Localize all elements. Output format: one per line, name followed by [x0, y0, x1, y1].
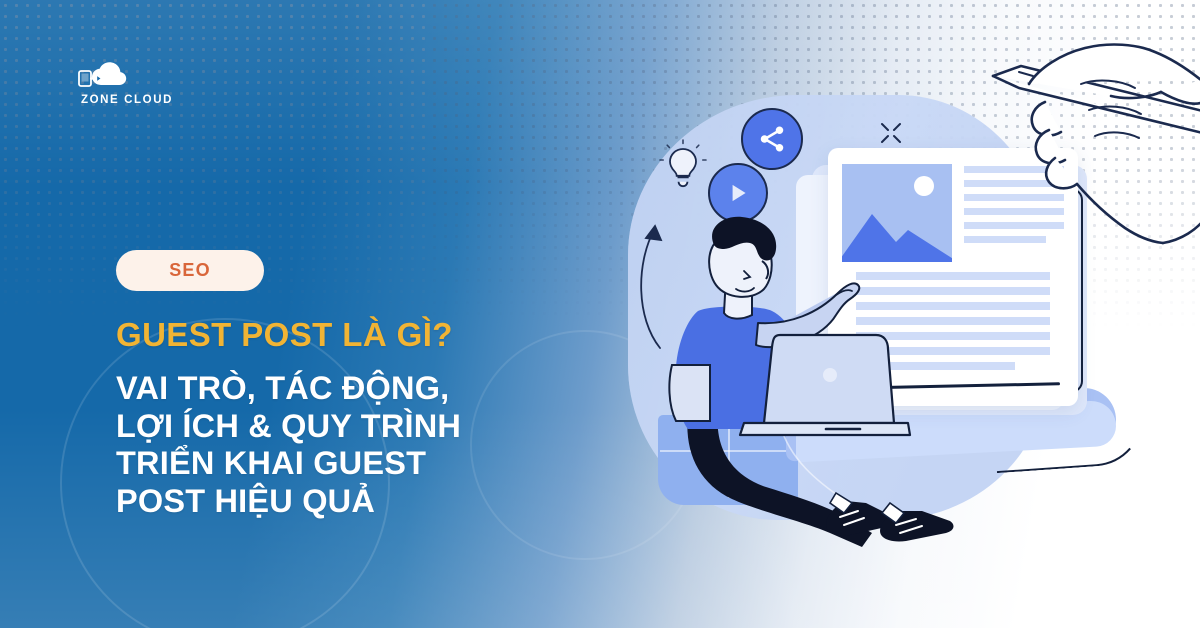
page-title-line-1: VAI TRÒ, TÁC ĐỘNG,	[116, 370, 586, 408]
lightbulb-icon	[660, 140, 706, 196]
hero-illustration	[600, 0, 1200, 628]
seo-blog-banner: ZONE CLOUD SEO GUEST POST LÀ GÌ? VAI TRÒ…	[0, 0, 1200, 628]
share-icon[interactable]	[741, 108, 803, 170]
page-title-line-4: POST HIỆU QUẢ	[116, 483, 586, 521]
page-title-highlight: GUEST POST LÀ GÌ?	[116, 318, 453, 351]
sparkle-icon	[878, 120, 904, 146]
brand-logo-text: ZONE CLOUD	[62, 94, 192, 106]
category-badge[interactable]: SEO	[116, 250, 264, 291]
person-illustration	[640, 215, 960, 555]
brand-logo[interactable]: ZONE CLOUD	[62, 62, 192, 118]
play-icon[interactable]	[708, 163, 768, 223]
laptop-base-outline	[993, 413, 1146, 473]
category-badge-label: SEO	[169, 260, 211, 281]
cloud-upload-icon	[76, 62, 138, 94]
page-title-line-2: LỢI ÍCH & QUY TRÌNH	[116, 408, 586, 446]
page-title: VAI TRÒ, TÁC ĐỘNG, LỢI ÍCH & QUY TRÌNH T…	[116, 370, 586, 521]
hand-with-stylus-illustration	[985, 18, 1200, 243]
page-title-line-3: TRIỂN KHAI GUEST	[116, 445, 586, 483]
sun-shape	[914, 176, 934, 196]
